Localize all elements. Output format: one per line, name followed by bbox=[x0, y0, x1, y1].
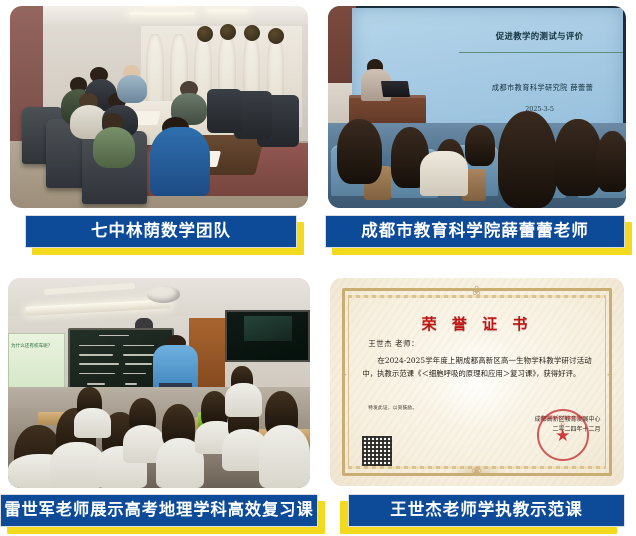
caption-plate-4: 王世杰老师学执教示范课 bbox=[348, 494, 625, 530]
star-icon: ★ bbox=[555, 427, 570, 444]
slide-divider bbox=[459, 52, 623, 53]
photo-lecture-hall: 促进教学的测试与评价 成都市教育科学研究院 薛蕾蕾 2025-3-5 bbox=[328, 6, 626, 208]
slide-subtitle: 成都市教育科学研究院 薛蕾蕾 bbox=[462, 83, 623, 93]
photo-certificate: ❀ ❀ ✦ ✦ 荣 誉 证 书 王世杰 老师： 在2024-2025学年度上期成… bbox=[330, 278, 624, 486]
photo-classroom: 为什么还有校车呢？ bbox=[8, 278, 310, 488]
caption-plate-3: 雷世军老师展示高考地理学科高效复习课 bbox=[0, 494, 318, 530]
tv-screen-glow bbox=[244, 316, 292, 341]
caption-box: 王世杰老师学执教示范课 bbox=[348, 494, 625, 527]
caption-box: 成都市教育科学院薛蕾蕾老师 bbox=[325, 215, 625, 248]
projection-text: 为什么还有校车呢？ bbox=[11, 343, 62, 349]
caption-text: 王世杰老师学执教示范课 bbox=[390, 502, 583, 519]
caption-text: 七中林荫数学团队 bbox=[91, 223, 231, 240]
certificate-footnote: 特发此证，以资鼓励。 bbox=[368, 405, 417, 411]
panel-bottom-right: ❀ ❀ ✦ ✦ 荣 誉 证 书 王世杰 老师： 在2024-2025学年度上期成… bbox=[318, 268, 636, 536]
caption-box: 雷世军老师展示高考地理学科高效复习课 bbox=[0, 494, 318, 527]
person-foreground bbox=[150, 127, 210, 196]
ceiling-light-icon bbox=[129, 12, 195, 15]
ornament-icon: ✦ bbox=[606, 372, 614, 381]
certificate-flourish bbox=[448, 464, 507, 474]
projection-board bbox=[8, 333, 65, 396]
qr-code-icon bbox=[362, 436, 392, 466]
caption-text: 雷世军老师展示高考地理学科高效复习课 bbox=[4, 502, 313, 518]
official-seal: 成都高新区教育发展中心 ★ bbox=[537, 409, 589, 461]
panel-bottom-left: 为什么还有校车呢？ bbox=[0, 268, 318, 536]
certificate-recipient: 王世杰 老师： bbox=[368, 338, 419, 349]
photo-meeting-room bbox=[10, 6, 308, 208]
caption-text: 成都市教育科学院薛蕾蕾老师 bbox=[361, 223, 589, 240]
laptop-icon bbox=[380, 81, 409, 97]
photo-ceiling bbox=[10, 6, 308, 24]
caption-plate-1: 七中林荫数学团队 bbox=[25, 215, 297, 251]
caption-plate-2: 成都市教育科学院薛蕾蕾老师 bbox=[325, 215, 625, 251]
certificate-body: 在2024-2025学年度上期成都高新区高一生物学科教学研讨活动中，执教示范课《… bbox=[362, 355, 591, 381]
photo-collage-board: 七中林荫数学团队 促进教学的测试与评价 成都市教育科学研究院 薛蕾蕾 2025-… bbox=[0, 0, 636, 536]
caption-box: 七中林荫数学团队 bbox=[25, 215, 297, 248]
panel-top-right: 促进教学的测试与评价 成都市教育科学研究院 薛蕾蕾 2025-3-5 bbox=[318, 0, 636, 268]
ceiling-light-icon bbox=[207, 9, 249, 12]
certificate-title: 荣 誉 证 书 bbox=[330, 313, 624, 334]
panel-top-left: 七中林荫数学团队 bbox=[0, 0, 318, 268]
slide-title: 促进教学的测试与评价 bbox=[462, 30, 617, 42]
ornament-icon: ❀ bbox=[471, 285, 482, 298]
ornament-icon: ✦ bbox=[340, 372, 348, 381]
slide-date: 2025-3-5 bbox=[468, 105, 611, 113]
